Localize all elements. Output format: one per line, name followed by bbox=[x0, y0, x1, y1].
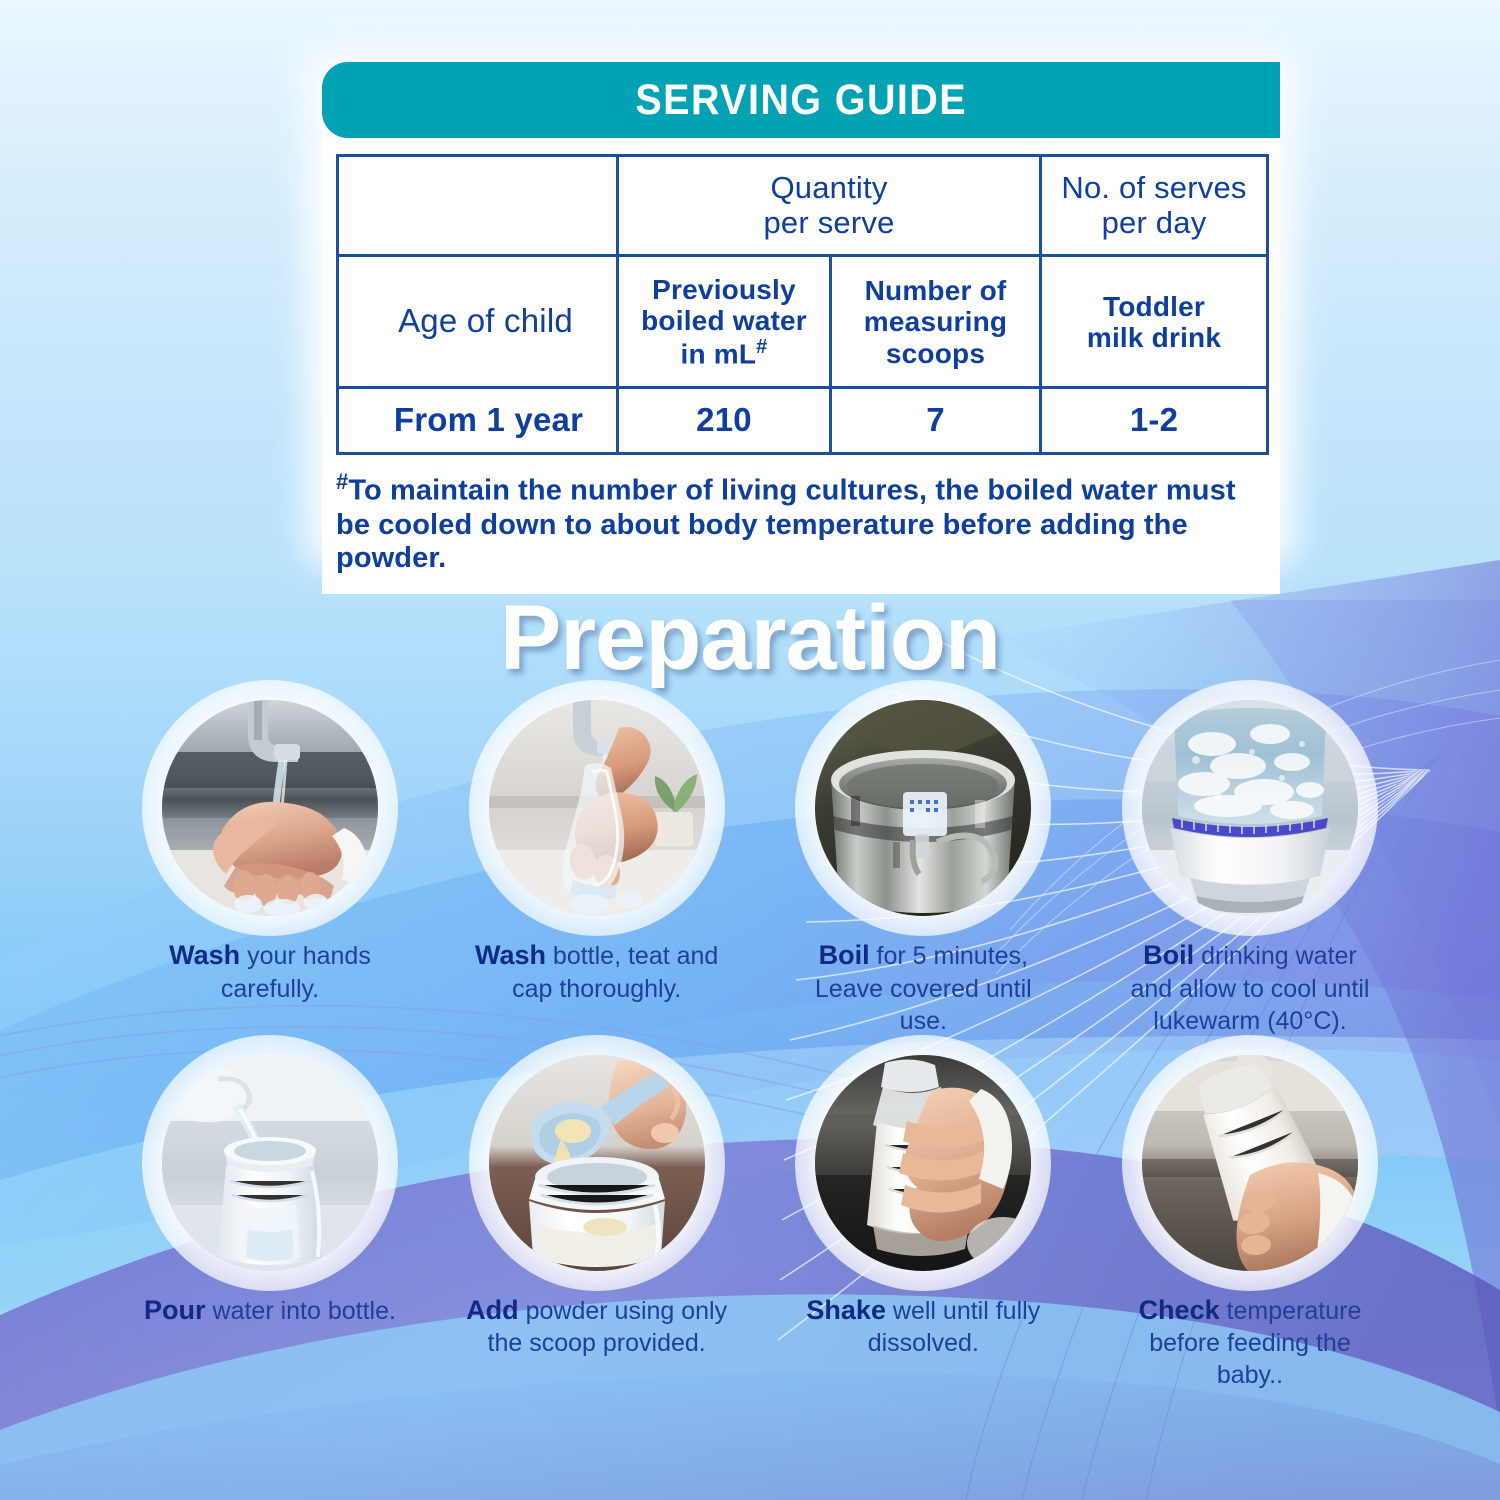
header-quantity-line2: per serve bbox=[625, 206, 1033, 241]
step-lead: Boil bbox=[819, 940, 870, 970]
step-image-frame bbox=[1142, 1055, 1358, 1271]
serving-guide-table: Quantity per serve No. of serves per day… bbox=[336, 154, 1269, 455]
step-wash-hands: Wash your hands carefully. bbox=[120, 700, 420, 1037]
pouring-water-into-bottle-photo bbox=[162, 1055, 378, 1271]
cell-serves-per-day: 1-2 bbox=[1041, 388, 1268, 454]
cell-age: From 1 year bbox=[338, 388, 618, 454]
header-serves-line2: per day bbox=[1048, 206, 1260, 241]
footnote-marker: # bbox=[336, 469, 348, 494]
step-image-frame bbox=[489, 700, 705, 916]
header-quantity-per-serve: Quantity per serve bbox=[618, 156, 1041, 256]
header-blank bbox=[338, 156, 618, 256]
step-image-frame bbox=[1142, 700, 1358, 916]
header-water-line2: boiled water bbox=[625, 305, 823, 336]
table-row: From 1 year 210 7 1-2 bbox=[338, 388, 1268, 454]
bottle-washing-under-tap-photo bbox=[489, 700, 705, 916]
step-shake-bottle: Shake well until fully dissolved. bbox=[773, 1055, 1073, 1392]
serving-guide-title: SERVING GUIDE bbox=[635, 76, 967, 125]
serving-guide-banner: SERVING GUIDE bbox=[322, 62, 1280, 138]
step-text: water into bottle. bbox=[206, 1297, 396, 1325]
header-water-line1: Previously bbox=[625, 274, 823, 305]
header-toddler-milk-drink: Toddler milk drink bbox=[1041, 256, 1268, 388]
header-serves-per-day: No. of serves per day bbox=[1041, 156, 1268, 256]
preparation-steps-row-2: Pour water into bottle. bbox=[120, 1055, 1400, 1392]
step-caption: Wash bottle, teat and cap thoroughly. bbox=[466, 938, 728, 1005]
header-drink-line1: Toddler bbox=[1048, 291, 1260, 322]
step-check-temperature: Check temperature before feeding the bab… bbox=[1100, 1055, 1400, 1392]
step-image-frame bbox=[815, 700, 1031, 916]
table-column-header-row: Age of child Previously boiled water in … bbox=[338, 256, 1268, 388]
header-age-of-child: Age of child bbox=[338, 256, 618, 388]
preparation-heading: Preparation bbox=[0, 586, 1500, 691]
step-caption: Shake well until fully dissolved. bbox=[792, 1293, 1054, 1360]
header-scoops-line2: measuring bbox=[838, 306, 1033, 337]
header-drink-line2: milk drink bbox=[1048, 322, 1260, 353]
hand-shaking-bottle-photo bbox=[815, 1055, 1031, 1271]
step-image-frame bbox=[815, 1055, 1031, 1271]
boiling-pot-on-stove-photo bbox=[815, 700, 1031, 916]
step-caption: Pour water into bottle. bbox=[139, 1293, 401, 1328]
step-lead: Pour bbox=[144, 1295, 206, 1325]
step-caption: Check temperature before feeding the bab… bbox=[1119, 1293, 1381, 1392]
preparation-steps-row-1: Wash your hands carefully. bbox=[120, 700, 1400, 1037]
step-boil-drinking-water: Boil drinking water and allow to cool un… bbox=[1100, 700, 1400, 1037]
hands-washing-under-tap-photo bbox=[162, 700, 378, 916]
header-water-line3: in mL# bbox=[625, 336, 823, 370]
step-lead: Wash bbox=[169, 940, 240, 970]
electric-kettle-boiling-photo bbox=[1142, 700, 1358, 916]
scoop-adding-powder-photo bbox=[489, 1055, 705, 1271]
header-boiled-water: Previously boiled water in mL# bbox=[618, 256, 831, 388]
footnote-text: To maintain the number of living culture… bbox=[336, 475, 1236, 574]
step-caption: Boil for 5 minutes, Leave covered until … bbox=[792, 938, 1054, 1037]
step-pour-water: Pour water into bottle. bbox=[120, 1055, 420, 1392]
header-measuring-scoops: Number of measuring scoops bbox=[831, 256, 1041, 388]
step-image-frame bbox=[162, 700, 378, 916]
table-group-header-row: Quantity per serve No. of serves per day bbox=[338, 156, 1268, 256]
step-lead: Check bbox=[1139, 1295, 1220, 1325]
checking-milk-on-wrist-photo bbox=[1142, 1055, 1358, 1271]
header-serves-line1: No. of serves bbox=[1048, 171, 1260, 206]
infographic-canvas: SERVING GUIDE Quantity per serve No. of bbox=[0, 0, 1500, 1500]
step-text: your hands carefully. bbox=[221, 942, 371, 1003]
serving-guide-card: SERVING GUIDE Quantity per serve No. of bbox=[322, 62, 1280, 594]
header-scoops-line1: Number of bbox=[838, 275, 1033, 306]
header-quantity-line1: Quantity bbox=[625, 171, 1033, 206]
step-lead: Wash bbox=[475, 940, 546, 970]
step-caption: Wash your hands carefully. bbox=[139, 938, 401, 1005]
step-lead: Add bbox=[466, 1295, 518, 1325]
step-boil-pot: Boil for 5 minutes, Leave covered until … bbox=[773, 700, 1073, 1037]
step-lead: Boil bbox=[1143, 940, 1194, 970]
preparation-steps: Wash your hands carefully. bbox=[120, 700, 1400, 1409]
serving-guide-body: Quantity per serve No. of serves per day… bbox=[322, 138, 1280, 594]
serving-guide-footnote: #To maintain the number of living cultur… bbox=[336, 469, 1266, 576]
cell-scoops: 7 bbox=[831, 388, 1041, 454]
step-caption: Add powder using only the scoop provided… bbox=[466, 1293, 728, 1360]
step-text: powder using only the scoop provided. bbox=[488, 1297, 728, 1358]
step-text: well until fully dissolved. bbox=[868, 1297, 1040, 1358]
cell-water-ml: 210 bbox=[618, 388, 831, 454]
step-image-frame bbox=[489, 1055, 705, 1271]
step-add-powder: Add powder using only the scoop provided… bbox=[447, 1055, 747, 1392]
step-image-frame bbox=[162, 1055, 378, 1271]
step-caption: Boil drinking water and allow to cool un… bbox=[1119, 938, 1381, 1037]
step-lead: Shake bbox=[806, 1295, 886, 1325]
header-scoops-line3: scoops bbox=[838, 338, 1033, 369]
water-footnote-marker: # bbox=[756, 336, 767, 358]
step-wash-bottle: Wash bottle, teat and cap thoroughly. bbox=[447, 700, 747, 1037]
